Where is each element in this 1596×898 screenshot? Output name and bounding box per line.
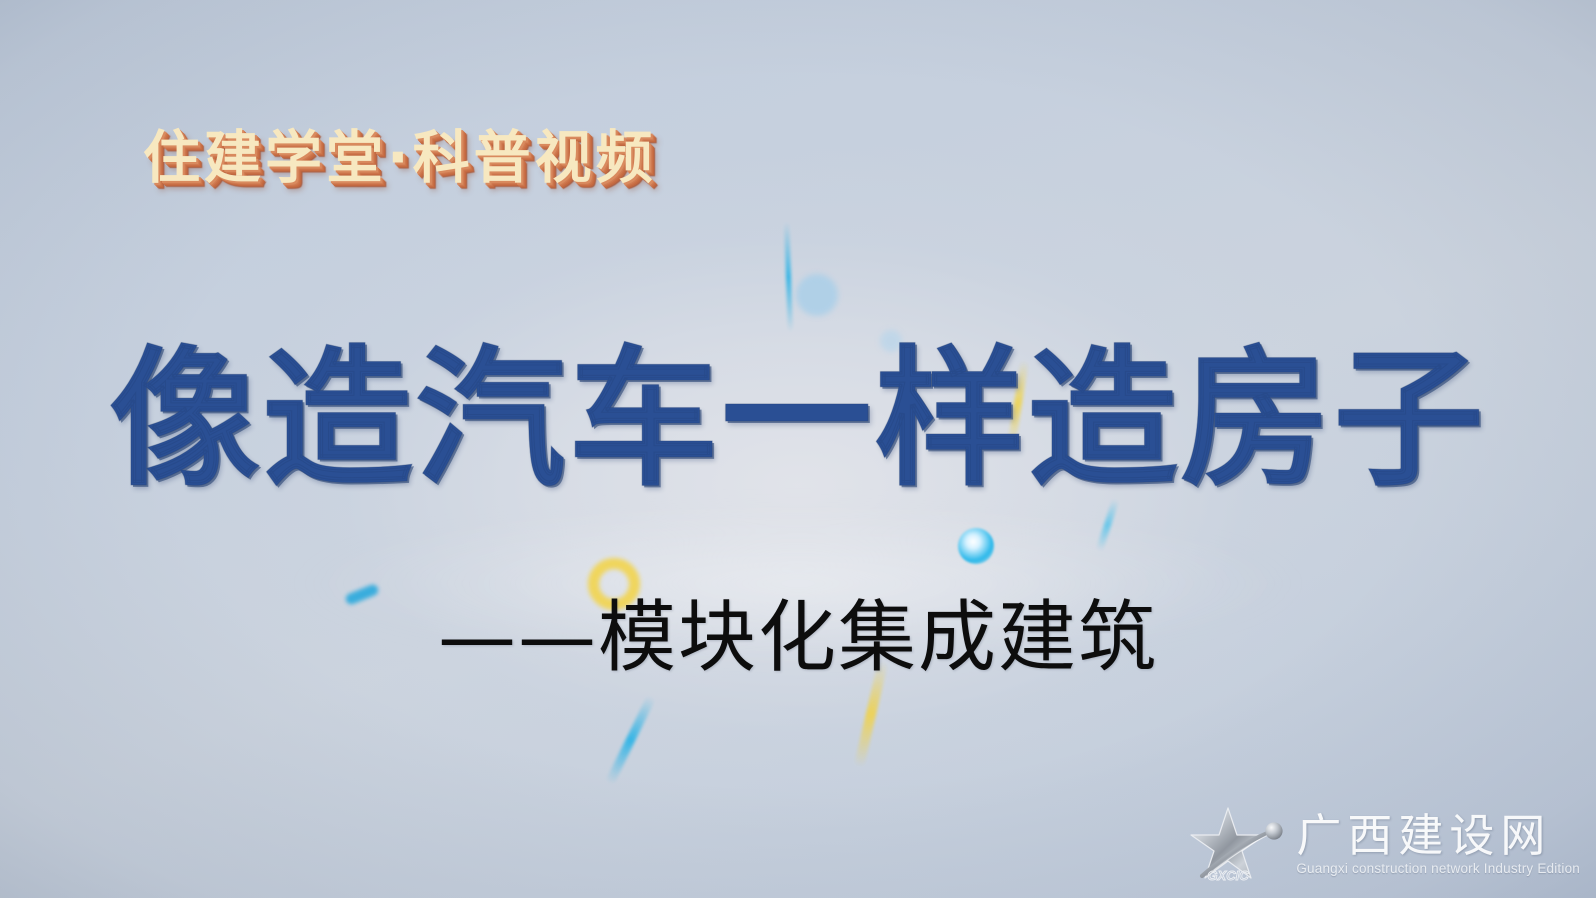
eyebrow-series-label: 住建学堂·科普视频 bbox=[143, 112, 657, 194]
subtitle: ——模块化集成建筑 bbox=[0, 596, 1596, 682]
video-title-card: 住建学堂·科普视频 像造汽车一样造房子 ——模块化集成建筑 bbox=[0, 0, 1596, 898]
watermark-logo: GXCIC 广西建设网 Guangxi construction network… bbox=[1184, 804, 1580, 884]
logo-name-cn: 广西建设网 bbox=[1296, 812, 1551, 859]
gxcic-wordmark: GXCIC bbox=[1208, 868, 1250, 883]
logo-name-en: Guangxi construction network Industry Ed… bbox=[1296, 861, 1580, 876]
logo-text-block: 广西建设网 Guangxi construction network Indus… bbox=[1296, 812, 1580, 875]
gxcic-star-icon: GXCIC bbox=[1184, 804, 1286, 884]
page-title: 像造汽车一样造房子 bbox=[0, 345, 1596, 495]
